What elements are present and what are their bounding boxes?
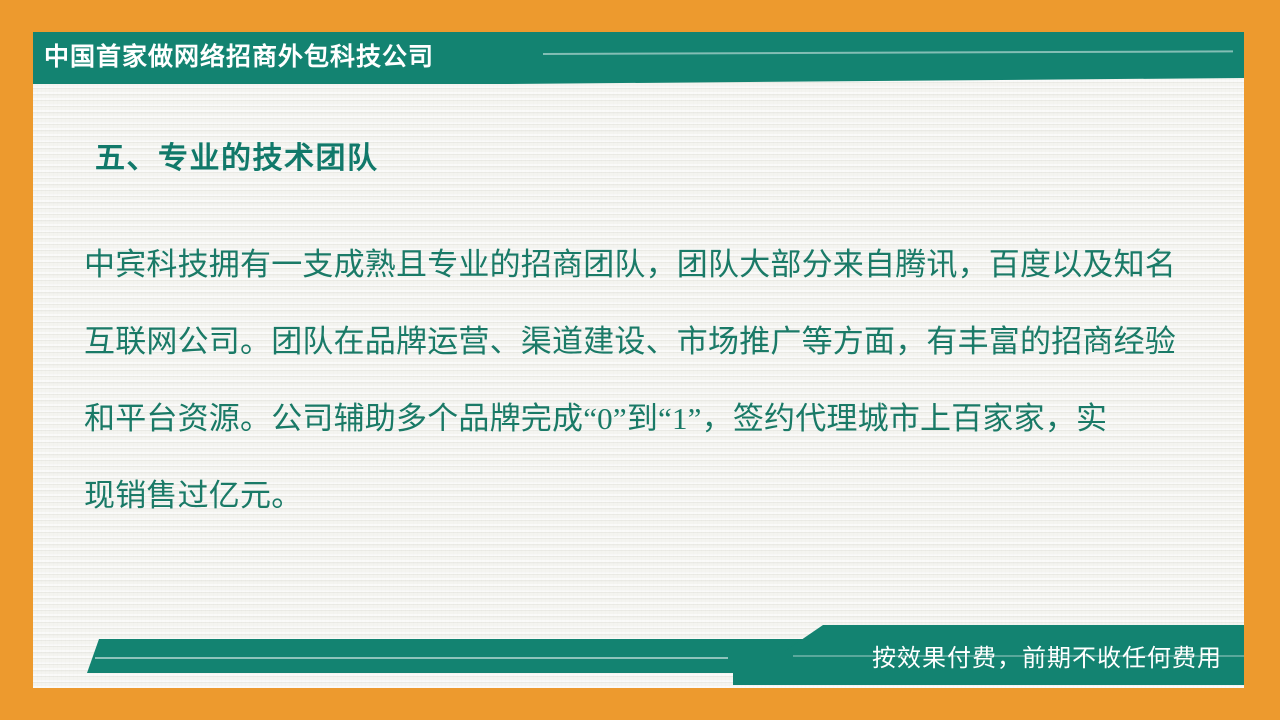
presentation-slide: 中国首家做网络招商外包科技公司 五、专业的技术团队 中宾科技拥有一支成熟且专业的… [0,0,1280,720]
footer-banner: 按效果付费，前期不收任何费用 [33,625,1244,688]
body-line: 现销售过亿元。 [84,457,1194,534]
header-title: 中国首家做网络招商外包科技公司 [44,32,434,78]
body-line: 互联网公司。团队在品牌运营、渠道建设、市场推广等方面，有丰富的招商经验 [84,303,1194,380]
body-paragraph: 中宾科技拥有一支成熟且专业的招商团队，团队大部分来自腾讯，百度以及知名 互联网公… [84,226,1194,534]
section-heading: 五、专业的技术团队 [95,133,379,177]
body-line: 和平台资源。公司辅助多个品牌完成“0”到“1”，签约代理城市上百家家，实 [84,380,1194,457]
footer-slogan: 按效果付费，前期不收任何费用 [872,625,1222,685]
footer-accent-line-left [95,657,728,659]
body-line: 中宾科技拥有一支成熟且专业的招商团队，团队大部分来自腾讯，百度以及知名 [84,226,1194,303]
header-banner: 中国首家做网络招商外包科技公司 [33,32,1244,84]
